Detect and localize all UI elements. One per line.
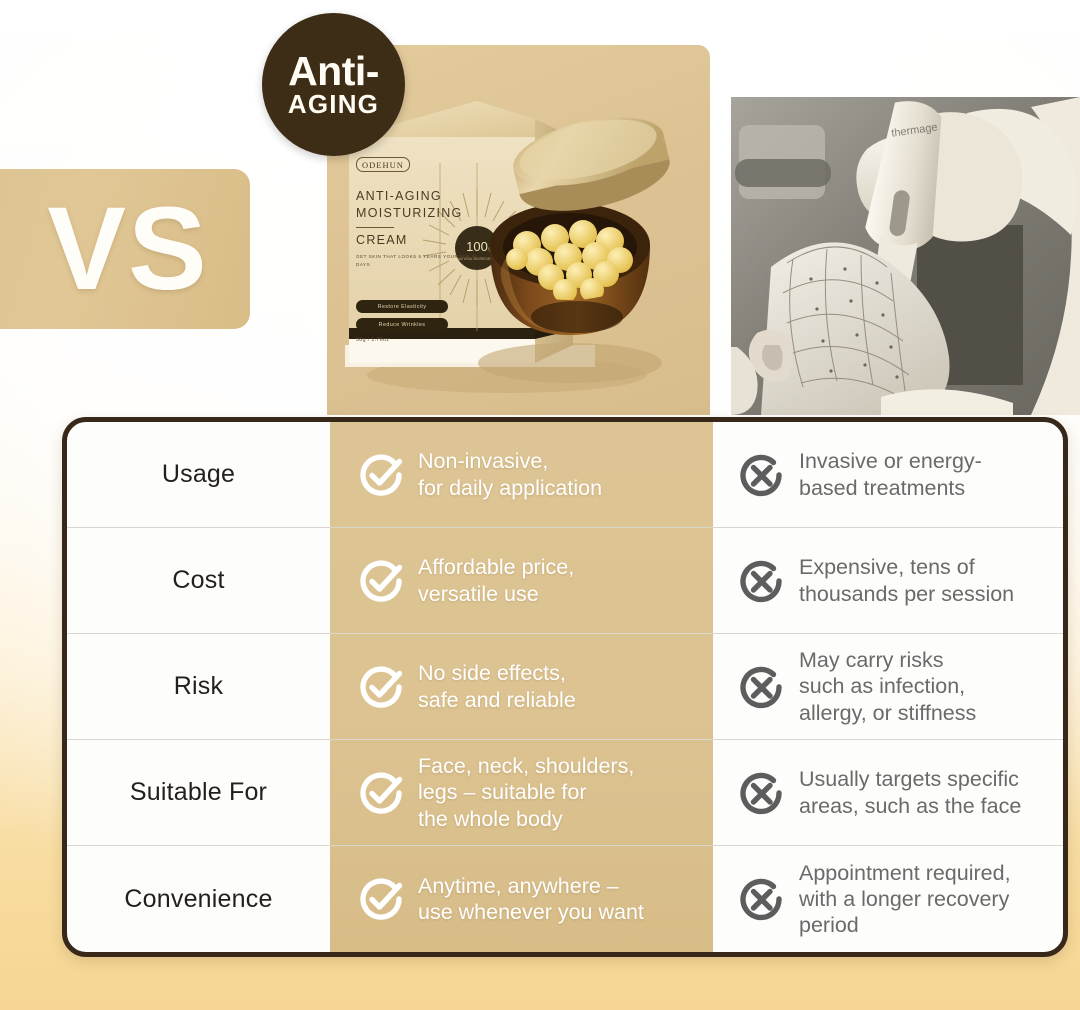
x-circle-icon	[737, 451, 785, 499]
pro-cell: Face, neck, shoulders,legs – suitable fo…	[330, 753, 713, 832]
pro-text: Anytime, anywhere –use whenever you want	[418, 873, 644, 925]
vs-badge: VS	[0, 169, 250, 329]
x-circle-icon	[737, 875, 785, 923]
con-cell: Usually targets specificareas, such as t…	[713, 766, 1063, 818]
pro-text: Non-invasive,for daily application	[418, 448, 602, 500]
anti-aging-badge-line1: Anti-	[288, 52, 379, 91]
con-cell: Expensive, tens ofthousands per session	[713, 554, 1063, 606]
con-text: May carry riskssuch as infection,allergy…	[799, 647, 976, 726]
vs-label: VS	[1, 190, 208, 308]
con-cell: Appointment required,with a longer recov…	[713, 860, 1063, 939]
check-circle-icon	[357, 663, 405, 711]
product-tag-reduce: Reduce Wrinkles	[356, 318, 448, 331]
pro-cell: No side effects,safe and reliable	[330, 660, 713, 712]
check-circle-icon	[357, 557, 405, 605]
pro-text: Affordable price,versatile use	[418, 554, 574, 606]
table-row: Suitable ForFace, neck, shoulders,legs –…	[67, 740, 1063, 846]
row-label-convenience: Convenience	[67, 885, 330, 914]
pro-text: No side effects,safe and reliable	[418, 660, 576, 712]
pro-text: Face, neck, shoulders,legs – suitable fo…	[418, 753, 634, 832]
row-label-usage: Usage	[67, 460, 330, 489]
pro-cell: Affordable price,versatile use	[330, 554, 713, 606]
product-brand: ODEHUN	[356, 157, 410, 172]
clinic-treatment-photo: thermage	[731, 97, 1080, 415]
pro-cell: Anytime, anywhere –use whenever you want	[330, 873, 713, 925]
con-cell: Invasive or energy-based treatments	[713, 448, 1063, 500]
comparison-rows: UsageNon-invasive,for daily applicationI…	[67, 422, 1063, 952]
row-label-cost: Cost	[67, 566, 330, 595]
table-row: ConvenienceAnytime, anywhere –use whenev…	[67, 846, 1063, 952]
comparison-table: UsageNon-invasive,for daily applicationI…	[62, 417, 1068, 957]
check-circle-icon	[357, 769, 405, 817]
row-label-suitable-for: Suitable For	[67, 778, 330, 807]
product-tag-restore: Restore Elasticity	[356, 300, 448, 313]
row-label-risk: Risk	[67, 672, 330, 701]
anti-aging-badge: Anti- AGING	[262, 13, 405, 156]
product-title-line2: MOISTURIZING	[356, 206, 506, 222]
hero-section: 100 % NATURAL INGREDIENTS	[0, 0, 1080, 415]
table-row: RiskNo side effects,safe and reliableMay…	[67, 634, 1063, 740]
table-row: CostAffordable price,versatile useExpens…	[67, 528, 1063, 634]
con-text: Usually targets specificareas, such as t…	[799, 766, 1021, 818]
pro-cell: Non-invasive,for daily application	[330, 448, 713, 500]
x-circle-icon	[737, 557, 785, 605]
product-size: 50g / 1.76oz	[356, 337, 389, 343]
product-title-line1: ANTI-AGING	[356, 189, 506, 205]
con-text: Appointment required,with a longer recov…	[799, 860, 1011, 939]
con-cell: May carry riskssuch as infection,allergy…	[713, 647, 1063, 726]
x-circle-icon	[737, 769, 785, 817]
product-tagline: GET SKIN THAT LOOKS 5 YEARS YOUNGER IN D…	[356, 253, 481, 269]
con-text: Expensive, tens ofthousands per session	[799, 554, 1014, 606]
table-row: UsageNon-invasive,for daily applicationI…	[67, 422, 1063, 528]
check-circle-icon	[357, 875, 405, 923]
product-title-divider	[356, 227, 394, 228]
x-circle-icon	[737, 663, 785, 711]
con-text: Invasive or energy-based treatments	[799, 448, 982, 500]
check-circle-icon	[357, 451, 405, 499]
product-title-line3: CREAM	[356, 233, 506, 247]
anti-aging-badge-line2: AGING	[288, 91, 379, 117]
